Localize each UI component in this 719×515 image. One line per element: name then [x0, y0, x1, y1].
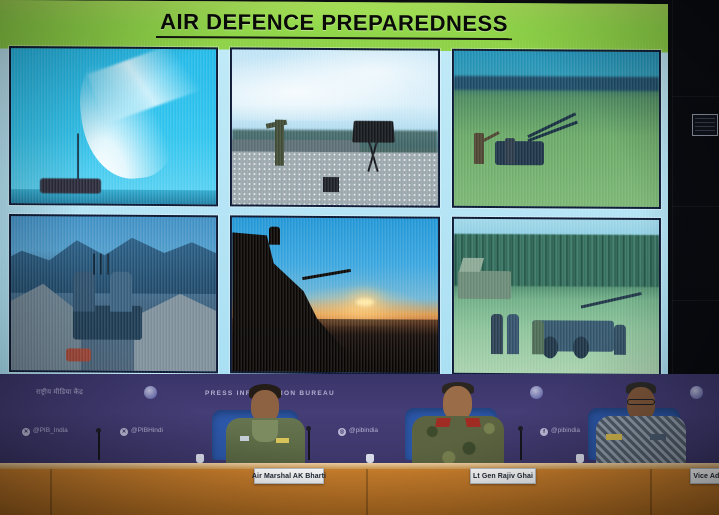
nameplate-lt-gen: Lt Gen Rajiv Ghai	[470, 468, 536, 484]
x-icon: ✕	[120, 428, 128, 436]
support-vehicle	[458, 271, 511, 299]
x-icon: ✕	[22, 428, 30, 436]
ribbon-bar	[650, 434, 666, 440]
photo-grid	[9, 46, 661, 376]
desk-seam	[50, 469, 52, 515]
aa-gun-body	[495, 141, 544, 166]
torso-uniform	[596, 416, 686, 468]
desk-seam	[650, 469, 652, 515]
photo-mountain-aa-gun	[9, 214, 218, 374]
gun-crew-member	[505, 138, 515, 164]
speaker-vice-admiral	[596, 382, 686, 466]
social-handle-pib-hindi: ✕@PIBHindi	[120, 427, 163, 436]
clouds	[232, 49, 437, 121]
slide-body	[0, 38, 668, 384]
gun-barrel	[93, 253, 95, 275]
launcher-vehicle	[40, 178, 102, 194]
social-handle-pibindia-facebook: f@pibindia	[540, 427, 580, 436]
desk-edge	[0, 463, 719, 469]
pib-emblem-icon	[144, 386, 157, 399]
nameplate-label: Air Marshal AK Bharti	[252, 473, 326, 480]
sun	[356, 298, 374, 306]
rock-outcrop	[134, 294, 216, 372]
gun-crew-member	[73, 272, 96, 312]
rank-insignia	[240, 436, 249, 441]
wall-seam	[672, 300, 719, 301]
wall-seam	[672, 96, 719, 97]
microphone	[520, 430, 522, 460]
page-title: AIR DEFENCE PREPAREDNESS	[156, 8, 512, 39]
soldier	[491, 314, 503, 354]
nameplate-air-marshal: Air Marshal AK Bharti	[254, 468, 324, 484]
water-glass	[196, 454, 204, 463]
gun-wheel	[573, 336, 589, 358]
photo-field-aa-gun-crew	[452, 49, 661, 209]
facebook-icon: f	[540, 428, 548, 436]
backdrop-hindi-text: राष्ट्रीय मीडिया केंद्र	[36, 388, 83, 397]
soldier-with-manpads	[275, 119, 283, 165]
soldier	[532, 321, 544, 355]
treeline	[454, 75, 659, 90]
handle-label: @pibindia	[551, 427, 580, 434]
pib-emblem-icon	[690, 386, 703, 399]
gun-barrel	[581, 292, 642, 308]
social-handle-pibindia-instagram: ◎@pibindia	[338, 427, 378, 436]
screen-surface: AIR DEFENCE PREPAREDNESS	[0, 0, 668, 384]
torso-uniform	[412, 416, 504, 468]
water-glass	[576, 454, 584, 463]
collar	[252, 420, 278, 442]
speaker-air-marshal	[222, 384, 308, 466]
handle-label: @PIBHindi	[131, 427, 163, 434]
collar-tab	[465, 418, 481, 427]
panel-desk	[0, 463, 719, 515]
soldier	[614, 324, 626, 355]
collar-tab	[435, 418, 451, 427]
foreground-shadow	[232, 319, 437, 373]
soldier	[507, 314, 519, 354]
gun-wheel	[542, 336, 558, 358]
presentation-screen: AIR DEFENCE PREPAREDNESS	[0, 0, 668, 384]
nameplate-vice-admiral: Vice Admiral	[690, 468, 719, 484]
eyeglasses-icon	[627, 399, 655, 405]
gun-crew-member	[474, 133, 484, 164]
wall-seam	[672, 206, 719, 207]
radar-antenna	[353, 120, 396, 142]
rank-insignia	[606, 434, 622, 440]
handle-label: @PIB_India	[33, 427, 68, 434]
soldier-silhouette	[269, 226, 279, 245]
ammo-case	[66, 349, 91, 362]
wall-vent-icon	[692, 114, 718, 136]
social-handle-pib-india: ✕@PIB_India	[22, 427, 68, 436]
photo-rooftop-manpads-radar	[230, 47, 439, 207]
instagram-icon: ◎	[338, 428, 346, 436]
gun-crew-member	[110, 272, 133, 312]
nameplate-label: Vice Admiral	[693, 473, 719, 480]
head	[443, 386, 472, 420]
mast	[77, 133, 79, 182]
nameplate-label: Lt Gen Rajiv Ghai	[473, 473, 533, 480]
name-tag	[276, 438, 289, 443]
wall-seam	[672, 0, 673, 378]
photo-sunset-gun-silhouette	[230, 215, 439, 375]
desk-seam	[366, 469, 368, 515]
pib-emblem-icon	[530, 386, 543, 399]
microphone	[98, 432, 100, 460]
photo-missile-launch	[9, 46, 218, 206]
press-conference-screenshot: AIR DEFENCE PREPAREDNESS	[0, 0, 719, 515]
handle-label: @pibindia	[349, 427, 378, 434]
equipment-box	[323, 177, 339, 193]
gun-barrel	[302, 269, 351, 280]
speaker-lt-gen	[412, 382, 504, 466]
microphone	[308, 430, 310, 460]
water-glass	[366, 454, 374, 463]
photo-l70-gun-deployment	[452, 216, 661, 376]
